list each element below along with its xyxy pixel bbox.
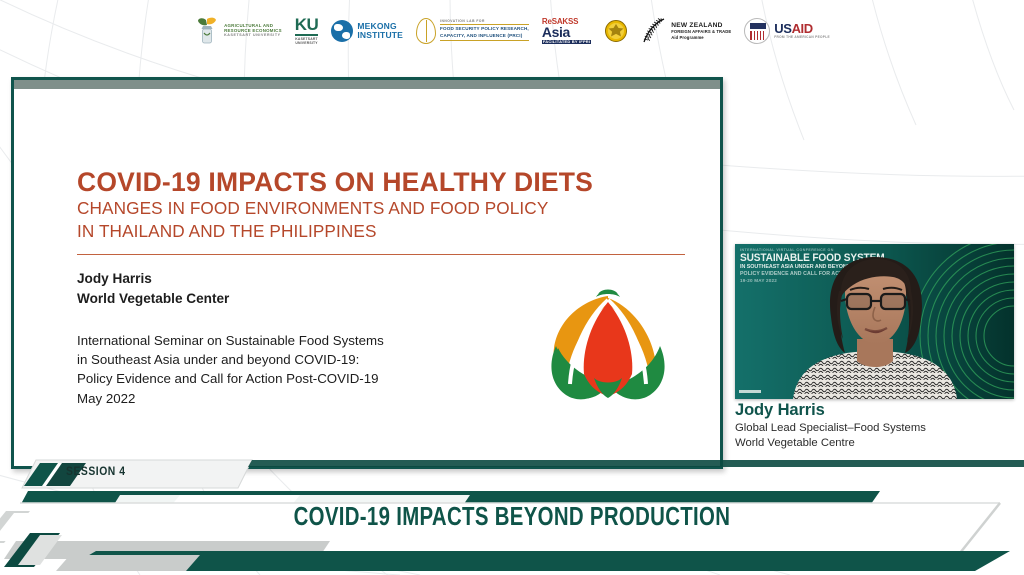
slide-title-main: COVID-19 IMPACTS ON HEALTHY DIETS [77, 167, 720, 197]
are-mark-icon [194, 16, 220, 46]
leaf-icon [416, 18, 436, 44]
prci-line-2: CAPACITY, AND INFLUENCE (PRCI) [440, 33, 529, 40]
nz-line-3: Aid Programme [671, 35, 731, 40]
ku-logo: KU KASETSART UNIVERSITY [295, 12, 319, 50]
usaid-word-us: US [774, 21, 791, 36]
usaid-seal-icon [744, 18, 770, 44]
slide-top-band [14, 80, 720, 89]
usaid-logo: USAID FROM THE AMERICAN PEOPLE [744, 12, 830, 50]
prci-line-1: FOOD SECURITY POLICY RESEARCH, [440, 26, 529, 33]
prci-divider-bottom [440, 40, 529, 41]
globe-icon [331, 20, 353, 42]
usaid-wordmark: USAID [774, 22, 830, 35]
asia-wordmark: Asia [542, 26, 591, 39]
mekong-line-2: INSTITUTE [357, 31, 403, 40]
silver-fern-icon [641, 17, 667, 45]
are-line-3: KASETSART UNIVERSITY [224, 34, 282, 38]
prci-divider-top [440, 24, 529, 25]
royal-thai-emblem-logo [604, 12, 628, 50]
slide-title-sub-2: IN THAILAND AND THE PHILIPPINES [77, 220, 720, 243]
slide-title-sub-1: CHANGES IN FOOD ENVIRONMENTS AND FOOD PO… [77, 197, 720, 220]
banner-top-thin-bar [248, 460, 1024, 467]
ku-small-2: UNIVERSITY [295, 41, 319, 45]
resakss-tagline: FACILITATED BY IFPRI [542, 40, 591, 44]
speaker-caption: Jody Harris Global Lead Specialist–Food … [735, 400, 1024, 451]
resakss-asia-logo: ReSAKSS Asia FACILITATED BY IFPRI [542, 12, 591, 50]
prci-top-line: INNOVATION LAB FOR [440, 20, 529, 23]
nz-line-1: NEW ZEALAND [671, 22, 731, 29]
presentation-slide[interactable]: COVID-19 IMPACTS ON HEALTHY DIETS CHANGE… [11, 77, 723, 469]
speaker-video-panel[interactable]: INTERNATIONAL VIRTUAL CONFERENCE ON SUST… [735, 244, 1014, 399]
speaker-role: Global Lead Specialist–Food Systems [735, 421, 1024, 436]
world-vegetable-center-logo-icon [532, 280, 684, 402]
agricultural-resource-economics-logo: AGRICULTURAL AND RESOURCE ECONOMICS KASE… [194, 12, 282, 50]
banner-title: COVID-19 IMPACTS BEYOND PRODUCTION [0, 503, 1024, 532]
banner-title-text: COVID-19 IMPACTS BEYOND PRODUCTION [294, 503, 731, 532]
sponsor-logo-strip: AGRICULTURAL AND RESOURCE ECONOMICS KASE… [0, 0, 1024, 62]
mekong-institute-logo: MEKONG INSTITUTE [331, 12, 403, 50]
slide-title-divider [77, 254, 685, 255]
usaid-tagline: FROM THE AMERICAN PEOPLE [774, 36, 830, 39]
new-zealand-mfat-logo: NEW ZEALAND FOREIGN AFFAIRS & TRADE Aid … [641, 12, 731, 50]
speaker-name: Jody Harris [735, 400, 1024, 421]
speaker-org: World Vegetable Centre [735, 436, 1024, 451]
ku-divider [295, 34, 319, 36]
nz-line-2: FOREIGN AFFAIRS & TRADE [671, 29, 731, 34]
prci-logo: INNOVATION LAB FOR FOOD SECURITY POLICY … [416, 12, 529, 50]
usaid-word-aid: AID [792, 21, 813, 36]
slide-content: COVID-19 IMPACTS ON HEALTHY DIETS CHANGE… [14, 89, 720, 466]
banner-stripe-lower [62, 551, 1010, 571]
ku-initials: KU [295, 17, 319, 33]
garuda-emblem-icon [604, 16, 628, 46]
speaker-webcam-image [735, 247, 1014, 399]
session-badge: SESSION 4 [66, 466, 126, 478]
banner-stripe-lower-notch [56, 555, 200, 571]
